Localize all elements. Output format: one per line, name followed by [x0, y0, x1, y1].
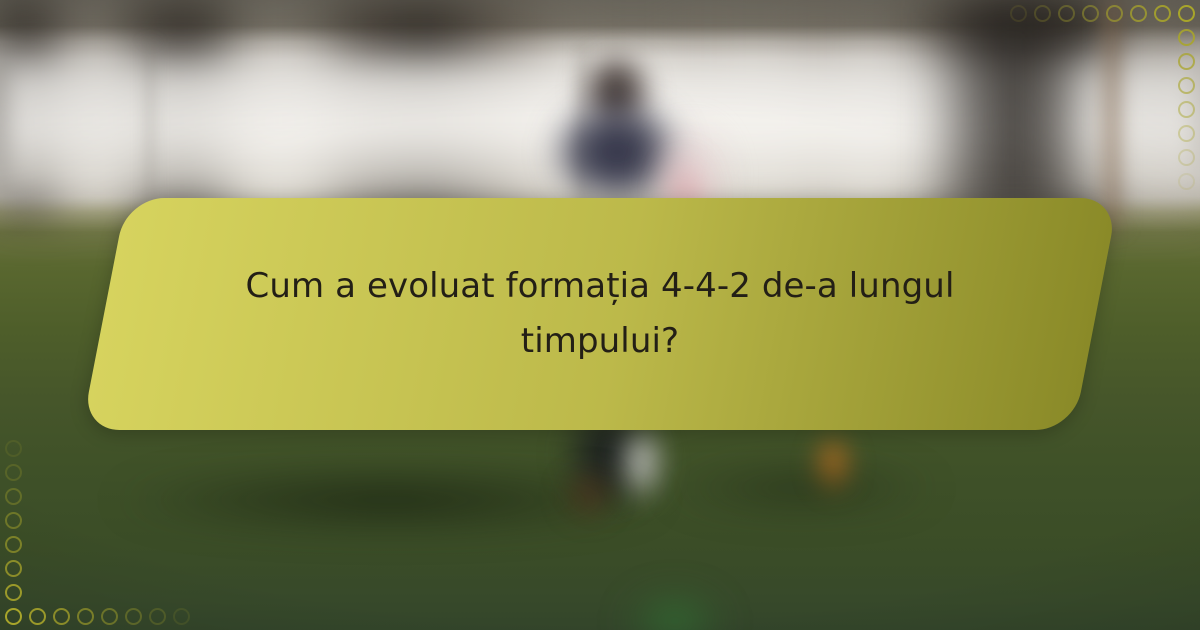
- decorative-ring: [5, 536, 22, 553]
- decorative-ring: [77, 608, 94, 625]
- decorative-ring: [5, 560, 22, 577]
- decorative-ring: [1082, 5, 1099, 22]
- decorative-rings-bottom-left: [0, 420, 210, 630]
- decorative-ring: [1178, 149, 1195, 166]
- decorative-ring: [1154, 5, 1171, 22]
- decorative-ring: [29, 608, 46, 625]
- decorative-ring: [1178, 29, 1195, 46]
- decorative-ring: [5, 512, 22, 529]
- decorative-ring: [1178, 101, 1195, 118]
- decorative-ring: [5, 488, 22, 505]
- decorative-ring: [1178, 5, 1195, 22]
- decorative-ring: [5, 608, 22, 625]
- decorative-ring: [53, 608, 70, 625]
- decorative-ring: [1178, 53, 1195, 70]
- decorative-ring: [1106, 5, 1123, 22]
- decorative-ring: [101, 608, 118, 625]
- decorative-ring: [125, 608, 142, 625]
- headline-text-block: Cum a evoluat formația 4-4-2 de-a lungul…: [104, 198, 1096, 430]
- headline-line-1: Cum a evoluat formația 4-4-2 de-a lungul: [246, 259, 955, 314]
- decorative-ring: [173, 608, 190, 625]
- decorative-ring: [1178, 77, 1195, 94]
- decorative-ring: [149, 608, 166, 625]
- decorative-ring: [1130, 5, 1147, 22]
- decorative-ring: [5, 584, 22, 601]
- decorative-rings-top-right: [990, 0, 1200, 210]
- decorative-ring: [1058, 5, 1075, 22]
- decorative-ring: [5, 464, 22, 481]
- decorative-ring: [1178, 125, 1195, 142]
- share-card: Cum a evoluat formația 4-4-2 de-a lungul…: [0, 0, 1200, 630]
- decorative-ring: [1010, 5, 1027, 22]
- decorative-ring: [1178, 173, 1195, 190]
- headline-banner: Cum a evoluat formația 4-4-2 de-a lungul…: [104, 198, 1096, 430]
- decorative-ring: [5, 440, 22, 457]
- headline-line-2: timpului?: [521, 314, 679, 369]
- decorative-ring: [1034, 5, 1051, 22]
